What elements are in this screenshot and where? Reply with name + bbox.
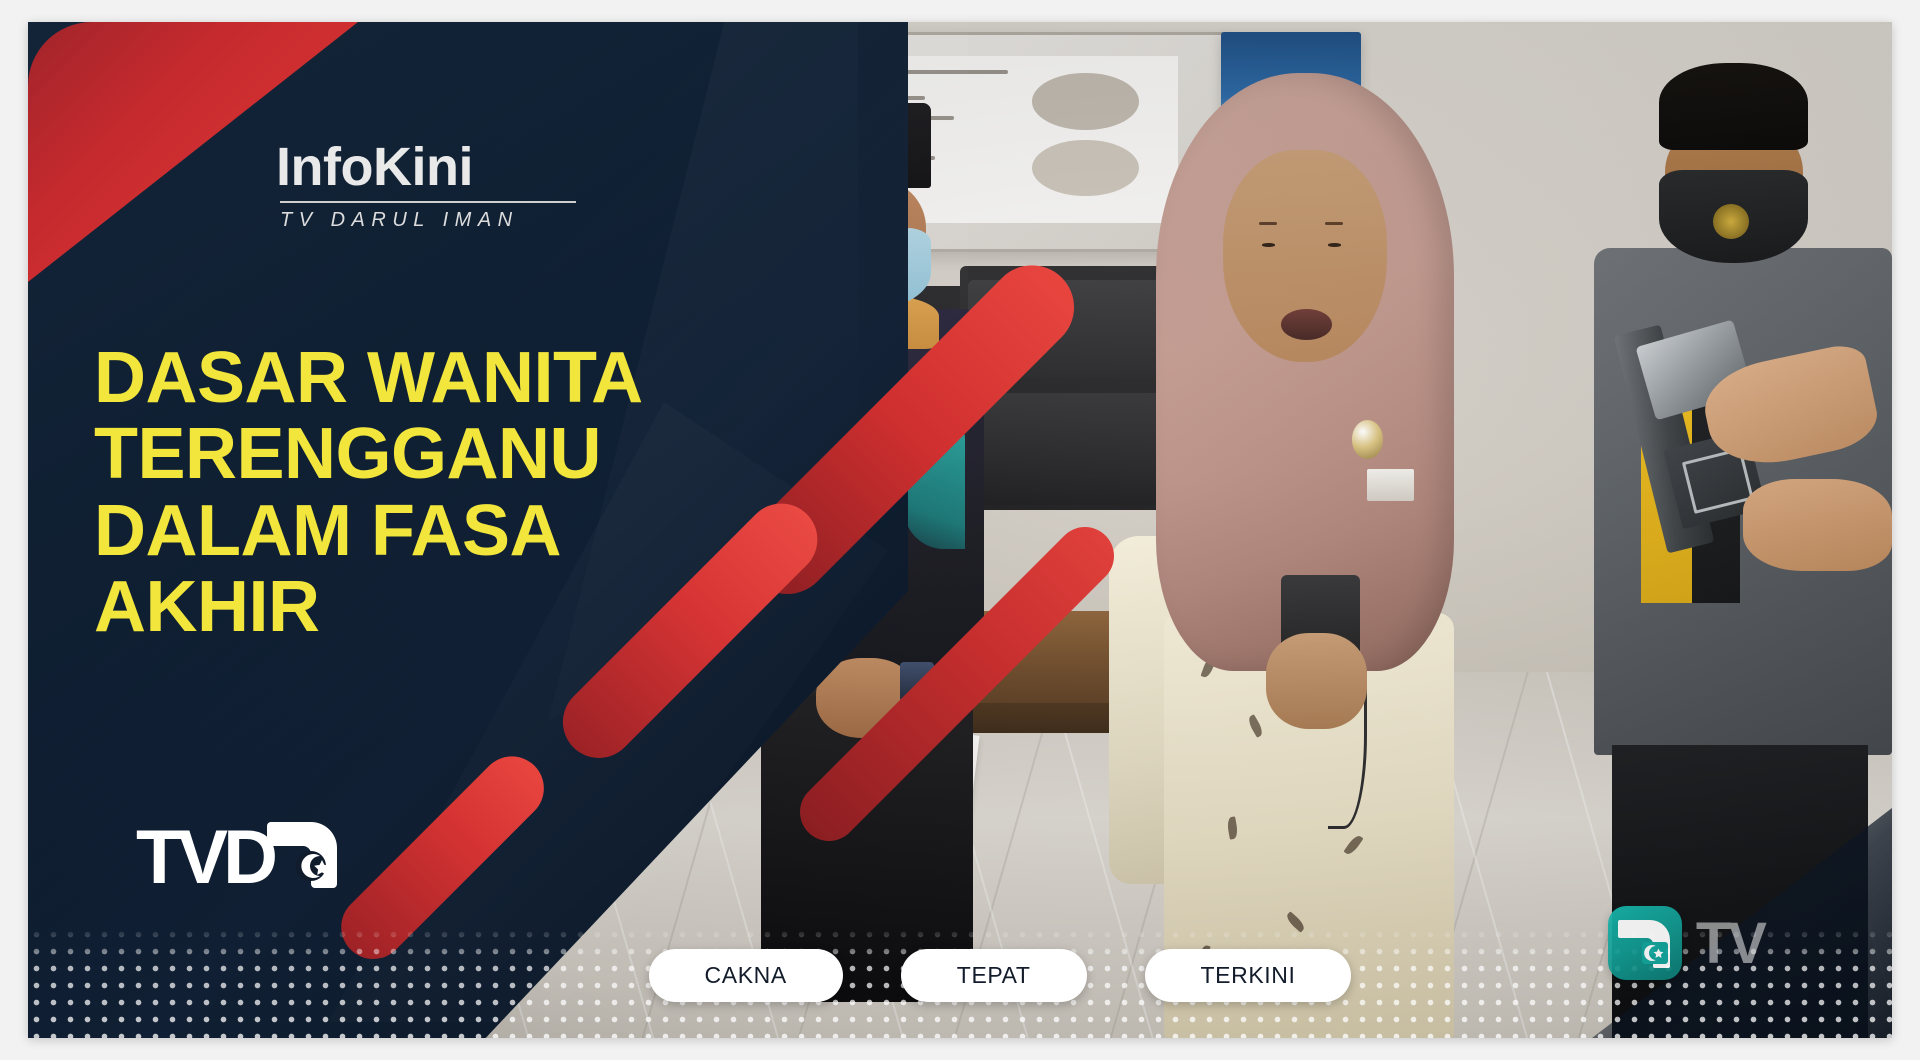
tvd-app-icon [1608, 906, 1682, 980]
tvd-wordmark: TVD [136, 826, 273, 890]
headline-line-2: TERENGGANU [94, 416, 854, 492]
person-woman-speaking [1109, 73, 1500, 1038]
headline-line-1: DASAR WANITA [94, 340, 854, 416]
app-wordmark: TV [1696, 910, 1764, 977]
headline: DASAR WANITA TERENGGANU DALAM FASA AKHIR [94, 340, 854, 645]
tagline-pill-tepat[interactable]: TEPAT [901, 949, 1087, 1002]
interviewer-hand-lower [1743, 479, 1892, 570]
video-thumbnail: InfoKini TV DARUL IMAN DASAR WANITA TERE… [28, 22, 1892, 1038]
tagline-pill-terkini[interactable]: TERKINI [1145, 949, 1352, 1002]
tagline-pill-cakna[interactable]: CAKNA [649, 949, 843, 1002]
tvd-logo: TVD [136, 810, 341, 890]
brand-divider [280, 201, 576, 203]
headline-line-4: AKHIR [94, 569, 854, 645]
app-watermark: TV [1608, 906, 1764, 980]
crescent-star-icon [267, 816, 341, 890]
brand-title: InfoKini [276, 140, 696, 194]
name-badge [1367, 469, 1414, 502]
headline-line-3: DALAM FASA [94, 493, 854, 569]
brand-subtitle: TV DARUL IMAN [280, 209, 696, 232]
brooch [1352, 420, 1383, 459]
brand-lockup: InfoKini TV DARUL IMAN [276, 140, 696, 232]
